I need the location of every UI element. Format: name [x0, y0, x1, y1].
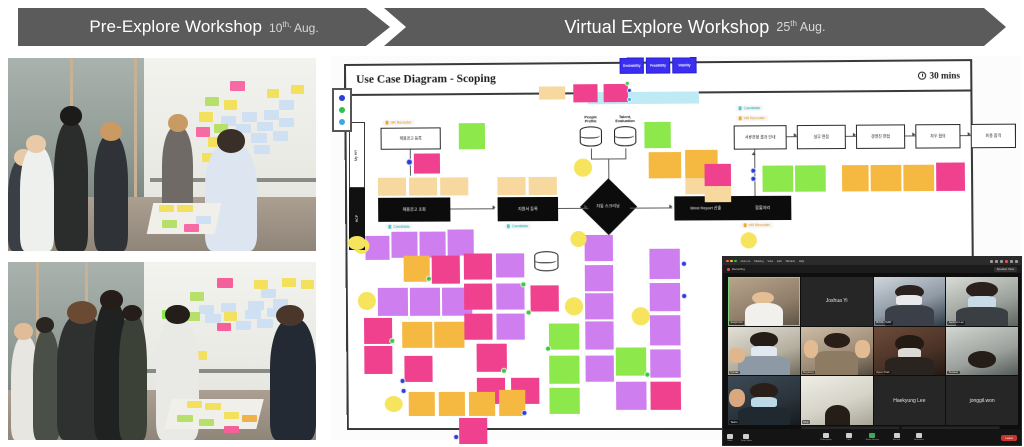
reaction-pin[interactable]	[389, 338, 395, 344]
blue-box-desirability[interactable]: Desirability	[620, 58, 644, 74]
clock-icon	[918, 72, 926, 80]
menu-item-edit[interactable]: Edit	[777, 260, 781, 263]
ui-tile-detail[interactable]	[440, 177, 468, 195]
candidate-icon	[739, 106, 742, 110]
diagram-title: Use Case Diagram - Scoping	[356, 73, 496, 86]
reaction-pin[interactable]	[521, 410, 527, 416]
reaction-pin[interactable]	[750, 168, 756, 174]
sticky-note[interactable]	[649, 249, 680, 279]
connector	[450, 208, 494, 210]
reaction-pin[interactable]	[681, 261, 687, 267]
sticky-circle-yellow[interactable]	[632, 307, 650, 325]
speaker-view-button[interactable]: Speaker View	[994, 267, 1017, 272]
arrow-head	[493, 205, 496, 209]
sticky-note[interactable]	[650, 315, 681, 345]
reaction-pin[interactable]	[400, 378, 406, 384]
record-icon	[894, 433, 900, 438]
sticky-note-green[interactable]	[459, 123, 485, 149]
participant-tile[interactable]: Taeho	[728, 376, 800, 425]
menu-item-zoomus[interactable]: zoom.us	[741, 260, 751, 263]
participants-icon	[823, 433, 829, 438]
process-job-posting-register[interactable]: 채용공고 등록	[381, 127, 441, 149]
participant-name: Haekyung Lee	[874, 398, 946, 404]
workshop-banner-row: Pre-Explore Workshop 10th, Aug. Virtual …	[0, 0, 1024, 52]
sticky-note[interactable]	[448, 229, 474, 255]
participant-name-tag: Soojin Kim	[729, 321, 744, 325]
sticky-circle-yellow[interactable]	[570, 231, 586, 247]
microphone-icon	[727, 434, 733, 439]
sticky-note-pink[interactable]	[936, 162, 965, 191]
sticky-note[interactable]	[650, 382, 681, 410]
sticky-note[interactable]	[650, 283, 681, 311]
workshop-photo-bottom	[8, 262, 316, 440]
participant-tile[interactable]: Doyoung	[801, 327, 873, 376]
ui-tile-list[interactable]	[409, 177, 437, 195]
connector	[630, 207, 673, 209]
blue-box-feasibility[interactable]: Feasibility	[646, 57, 670, 73]
database-label-note[interactable]	[528, 273, 564, 283]
participant-name: jonggil.won	[946, 398, 1018, 404]
banner-date-virtual-explore: 25th Aug.	[776, 19, 825, 34]
candidate-icon	[507, 224, 510, 228]
sticky-note[interactable]	[549, 356, 579, 384]
participant-tile[interactable]: Soojin Kim	[728, 277, 800, 326]
sticky-note[interactable]	[404, 356, 432, 382]
participant-name-tag: Minji	[802, 420, 810, 424]
swimlane-label-text: HCP	[355, 215, 359, 222]
sticky-note[interactable]	[573, 84, 597, 102]
zoom-tool-mute[interactable]: Mute	[727, 434, 733, 442]
sticky-note[interactable]	[585, 321, 614, 349]
participant-name-tag: Doyoung	[802, 371, 815, 375]
decision-auto-screening[interactable]: 자동 스크리닝	[580, 178, 637, 235]
zoom-tool-stop-video[interactable]: Stop Video	[741, 434, 752, 442]
sticky-note[interactable]	[464, 314, 492, 340]
participant-name-tag: Jiyeon Park	[875, 371, 892, 375]
role-badge-candidate: Candidate	[385, 224, 412, 230]
process-application-register[interactable]: 지원서 등록	[498, 197, 559, 221]
reaction-pin[interactable]	[625, 81, 630, 86]
sticky-circle-yellow[interactable]	[741, 232, 757, 248]
process-document-result-notice[interactable]: 서류전형 결과 안내	[734, 125, 787, 150]
sticky-note[interactable]	[409, 392, 435, 416]
reaction-pin[interactable]	[627, 97, 632, 102]
sticky-note-orange[interactable]	[903, 165, 934, 191]
zoom-tool-record[interactable]: Record	[893, 433, 900, 441]
zoom-toolbar[interactable]: Participants Chat Share Screen Record Re…	[723, 429, 1021, 445]
sticky-note[interactable]	[432, 256, 460, 284]
reaction-pin[interactable]	[453, 434, 459, 440]
sticky-note[interactable]	[469, 392, 495, 416]
participant-tile[interactable]: Minji	[801, 376, 873, 425]
process-final-pass[interactable]: 최종 합격	[971, 124, 1016, 149]
arrow-head	[584, 205, 587, 209]
sticky-note[interactable]	[650, 349, 681, 377]
sticky-note[interactable]	[616, 382, 647, 410]
sticky-note[interactable]	[549, 388, 579, 414]
participant-tile[interactable]: Kyutae	[728, 327, 800, 376]
toolbar-dot-blue[interactable]	[339, 95, 345, 101]
leave-meeting-button[interactable]: Leave	[1001, 435, 1017, 441]
blue-box-label: Desirability	[623, 64, 640, 68]
sticky-note[interactable]	[464, 253, 492, 279]
participant-name-tag: MINSU SHIN	[875, 321, 893, 325]
arrow-head	[912, 132, 915, 136]
arrow-head	[752, 152, 756, 155]
reactions-icon	[916, 433, 922, 438]
zoom-tool-chat[interactable]: Chat	[846, 433, 852, 441]
reaction-pin[interactable]	[406, 159, 413, 166]
sticky-circle-yellow[interactable]	[565, 297, 583, 315]
hr-icon	[739, 116, 742, 120]
zoom-tool-reactions[interactable]: Reactions	[914, 433, 924, 441]
menu-item-view[interactable]: View	[768, 260, 774, 263]
sticky-note[interactable]	[616, 347, 647, 375]
reaction-pin[interactable]	[644, 372, 650, 378]
sticky-note-tan[interactable]	[705, 186, 732, 202]
database-talent-evaluation[interactable]: Talent,Evaluation	[614, 126, 636, 146]
hr-icon	[385, 121, 388, 125]
zoom-tool-participants[interactable]: Participants	[820, 433, 831, 441]
reaction-pin[interactable]	[681, 293, 687, 299]
connector	[625, 148, 626, 158]
sticky-note[interactable]	[496, 314, 524, 340]
sticky-note[interactable]	[364, 346, 392, 374]
sticky-note[interactable]	[364, 318, 392, 344]
sticky-note-orange[interactable]	[871, 165, 902, 191]
reaction-pin[interactable]	[426, 276, 432, 282]
process-pass-fail-handling[interactable]: 합불처리	[734, 196, 791, 220]
sticky-note[interactable]	[585, 265, 614, 291]
banner-virtual-explore[interactable]: Virtual Explore Workshop 25th Aug.	[384, 8, 1006, 46]
process-practical-interview[interactable]: 실무 면접	[797, 125, 846, 150]
sticky-note[interactable]	[439, 392, 465, 416]
menu-item-help[interactable]: Help	[799, 260, 804, 263]
blue-box-viability[interactable]: Viability	[672, 57, 696, 73]
participant-tile[interactable]: Jiyeon Park	[874, 327, 946, 376]
ui-tile-career-desc[interactable]	[529, 177, 557, 195]
participant-tile[interactable]: Haekyung Lee	[874, 376, 946, 425]
reaction-pin[interactable]	[401, 388, 407, 394]
hr-icon	[744, 223, 747, 227]
sticky-circle-yellow[interactable]	[385, 396, 403, 412]
role-badge-hr-recruiter: HR Recruiter	[740, 222, 772, 228]
screenshot-root: Pre-Explore Workshop 10th, Aug. Virtual …	[0, 0, 1024, 447]
sticky-note[interactable]	[378, 288, 408, 316]
window-controls[interactable]	[726, 260, 737, 263]
participant-tile[interactable]: jonggil.won	[946, 376, 1018, 425]
sticky-note[interactable]	[464, 284, 492, 310]
recording-indicator: Recording	[727, 267, 745, 271]
timer-label: 30 mins	[929, 70, 960, 80]
zoom-menubar[interactable]: zoom.us Meeting View Edit Window Help	[723, 257, 1021, 265]
reaction-pin[interactable]	[750, 176, 756, 182]
role-badge-candidate: Candidate	[504, 223, 532, 229]
sticky-note-green[interactable]	[762, 165, 793, 191]
zoom-av-controls[interactable]: Mute Stop Video	[727, 434, 752, 442]
database-people-profile[interactable]: PeopleProfile	[580, 126, 602, 146]
database-label: PeopleProfile	[580, 115, 602, 124]
banner-title-virtual-explore: Virtual Explore Workshop	[565, 17, 770, 38]
arrow-head	[968, 132, 971, 136]
arrow-head	[794, 133, 797, 137]
sticky-note[interactable]	[496, 283, 524, 309]
toolbar-dot-green[interactable]	[339, 107, 345, 113]
sticky-note[interactable]	[496, 253, 524, 277]
banner-pre-explore[interactable]: Pre-Explore Workshop 10th, Aug.	[18, 8, 390, 46]
participant-tile[interactable]: Joshua Yi	[801, 277, 873, 326]
participant-tile[interactable]: Sunwoo	[946, 327, 1018, 376]
connector	[591, 149, 592, 159]
sticky-note-orange[interactable]	[842, 165, 869, 191]
zoom-recording-bar: Recording Speaker View	[723, 265, 1021, 273]
sticky-note[interactable]	[391, 232, 417, 258]
participant-grid: Soojin Kim Joshua Yi MINSU SHIN Jaehoon …	[728, 277, 1018, 425]
participant-name-tag: Sunwoo	[947, 371, 959, 375]
sticky-note[interactable]	[539, 86, 565, 99]
candidate-icon	[388, 225, 391, 229]
participant-name-tag: Jaehoon Lee	[947, 321, 965, 325]
participant-name-tag: Taeho	[729, 420, 739, 424]
reaction-pin[interactable]	[520, 281, 526, 287]
role-badge-candidate: Candidate	[736, 105, 764, 111]
menu-item-meeting[interactable]: Meeting	[754, 260, 763, 263]
miro-color-toolbar[interactable]	[332, 88, 352, 132]
sticky-note[interactable]	[419, 232, 445, 258]
database-application-info[interactable]	[534, 251, 558, 271]
participant-tile[interactable]: Jaehoon Lee	[946, 277, 1018, 326]
sticky-note-green[interactable]	[644, 122, 671, 148]
toolbar-dot-lightblue[interactable]	[339, 119, 345, 125]
blue-box-label: Viability	[678, 63, 690, 67]
record-icon	[727, 268, 730, 271]
sticky-note[interactable]	[410, 288, 440, 316]
sticky-note-api-check[interactable]	[414, 153, 440, 173]
process-executive-interview[interactable]: 경영진 면접	[856, 124, 905, 149]
sticky-note-pink[interactable]	[704, 164, 731, 186]
sticky-circle-blue[interactable]	[358, 292, 376, 310]
role-badge-hr-recruiter: HR Recruiter	[736, 115, 768, 121]
reaction-pin[interactable]	[526, 310, 532, 316]
role-badge-hr-recruiter: HR Recruiter	[382, 120, 414, 126]
banner-title-pre-explore: Pre-Explore Workshop	[89, 17, 262, 37]
zoom-tool-share-screen[interactable]: Share Screen	[866, 433, 879, 441]
sticky-note[interactable]	[434, 322, 464, 348]
sticky-note[interactable]	[530, 285, 558, 311]
swimlane-label-text: My HR	[355, 150, 359, 161]
arrow-head	[853, 133, 856, 137]
diagram-timer: 30 mins	[918, 70, 960, 80]
arrow-head	[669, 204, 672, 208]
sticky-note-green[interactable]	[795, 165, 826, 191]
sticky-note[interactable]	[585, 356, 614, 382]
participant-name-tag: Kyutae	[729, 371, 740, 375]
participant-name: Joshua Yi	[801, 298, 873, 304]
database-label: Talent,Evaluation	[614, 115, 636, 124]
banner-date-pre-explore: 10th, Aug.	[269, 20, 319, 35]
zoom-meeting-window[interactable]: zoom.us Meeting View Edit Window Help Re…	[722, 256, 1022, 446]
reaction-pin[interactable]	[545, 346, 551, 352]
reaction-pin[interactable]	[627, 88, 632, 93]
workshop-photo-top	[8, 58, 316, 251]
blue-box-label: Feasibility	[650, 63, 666, 67]
sticky-note[interactable]	[585, 235, 614, 261]
recording-label: Recording	[732, 267, 745, 271]
process-offer-negotiation[interactable]: 처우 협의	[915, 124, 960, 149]
ui-tile-application-form[interactable]	[497, 177, 525, 195]
sticky-note[interactable]	[549, 323, 579, 349]
process-job-posting-view[interactable]: 채용공고 조회	[378, 197, 450, 221]
menu-item-window[interactable]: Window	[786, 260, 795, 263]
sticky-circle-yellow[interactable]	[574, 159, 592, 177]
sticky-note-orange[interactable]	[649, 152, 682, 178]
chat-icon	[846, 433, 852, 438]
video-camera-icon	[743, 434, 749, 439]
participant-tile[interactable]: MINSU SHIN	[874, 277, 946, 326]
sticky-note[interactable]	[604, 84, 628, 102]
sticky-note[interactable]	[402, 322, 432, 348]
sticky-note[interactable]	[585, 293, 614, 319]
sticky-note[interactable]	[459, 418, 487, 444]
swimlane-marker[interactable]	[348, 236, 366, 250]
share-screen-icon	[869, 433, 875, 438]
reaction-pin[interactable]	[501, 368, 507, 374]
ui-tile-search[interactable]	[378, 178, 406, 196]
